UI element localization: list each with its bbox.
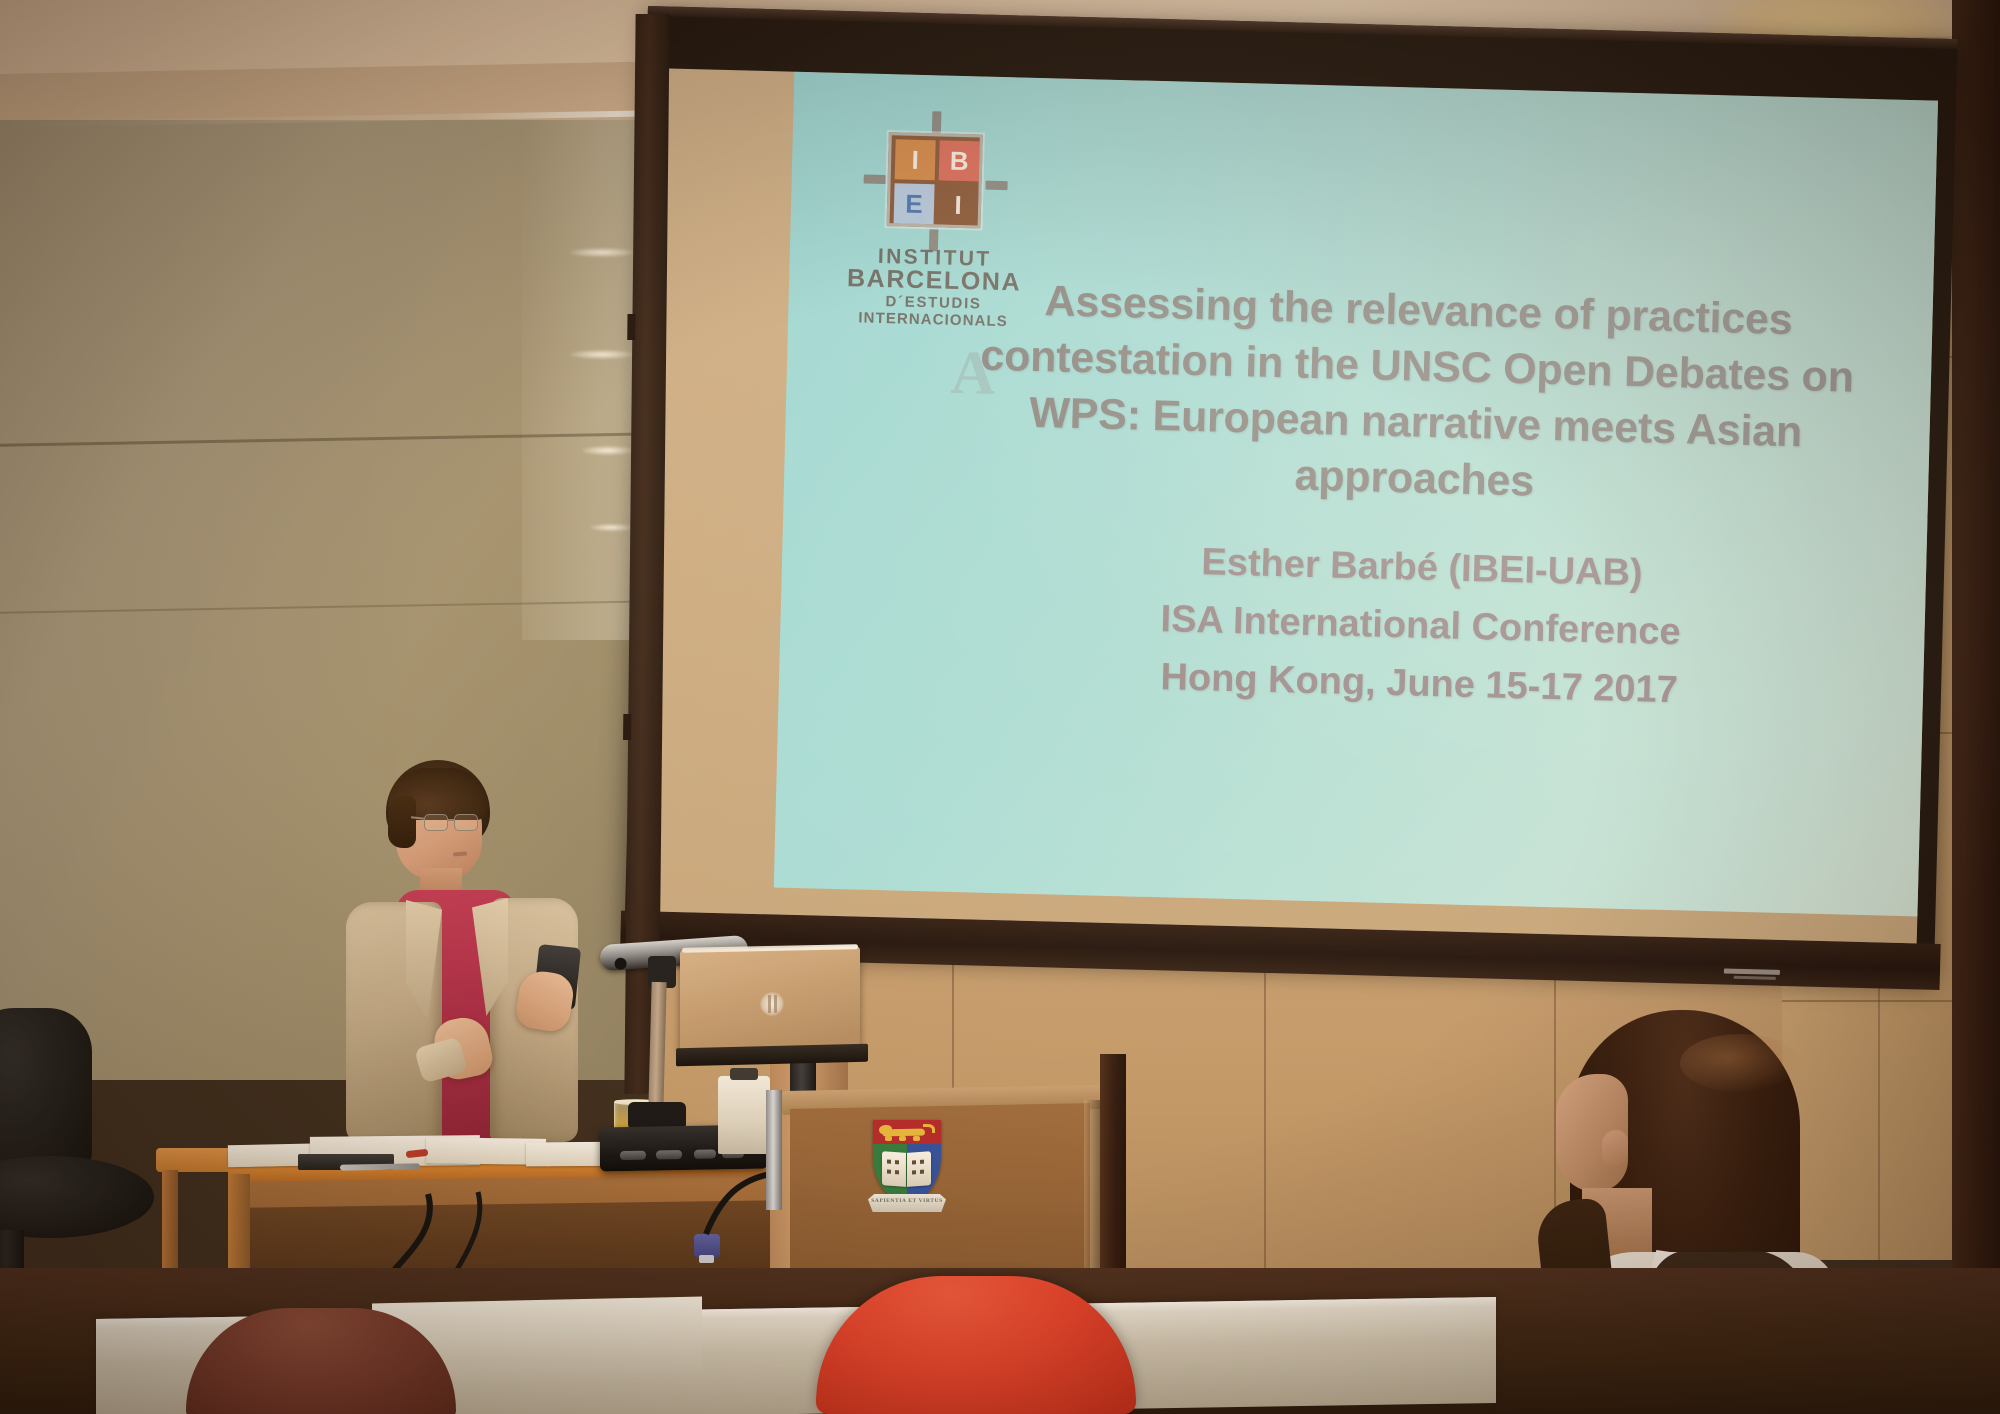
eyeglasses-icon xyxy=(424,814,486,834)
book-glyph xyxy=(887,1170,891,1174)
screen-brand-plate xyxy=(1724,969,1780,975)
book-glyph xyxy=(920,1160,924,1164)
presentation-photo-scene: I B E I INSTITUT BARCELONA D´ESTUDIS INT… xyxy=(0,0,2000,1414)
lion-tail xyxy=(923,1124,935,1133)
slide-subtitle: Esther Barbé (IBEI-UAB) ISA Internationa… xyxy=(1008,529,1832,723)
lion-paw xyxy=(913,1136,920,1141)
ibei-quadrant-i1: I xyxy=(895,139,936,180)
book-glyph xyxy=(895,1170,899,1174)
doccam-button[interactable] xyxy=(694,1149,716,1158)
lion-paw xyxy=(899,1136,906,1141)
crest-open-book-icon xyxy=(882,1152,932,1186)
book-glyph xyxy=(887,1160,891,1164)
wall-highlight xyxy=(590,524,634,531)
presenter-hair-side xyxy=(388,796,416,848)
eyeglass-lens-left xyxy=(424,814,448,831)
eyeglass-bridge xyxy=(448,819,455,821)
doccam-button[interactable] xyxy=(656,1150,682,1159)
crest-motto-ribbon: SAPIENTIA ET VIRTUS xyxy=(868,1194,946,1212)
presenter xyxy=(340,760,640,1180)
logo-tick-top-icon xyxy=(932,111,942,133)
logo-tick-left-icon xyxy=(864,175,886,185)
chair-backrest xyxy=(0,1008,92,1178)
hku-crest: SAPIENTIA ET VIRTUS xyxy=(868,1120,946,1224)
hp-logo-icon xyxy=(760,992,784,1017)
laptop-lid xyxy=(680,946,860,1054)
chair-seat xyxy=(0,1156,154,1238)
silver-pole xyxy=(766,1090,782,1210)
crest-lion-icon xyxy=(879,1124,935,1140)
slide-title: Assessing the relevance of practices con… xyxy=(934,271,1899,519)
doccam-lens-icon xyxy=(614,957,627,970)
projection-screen: I B E I INSTITUT BARCELONA D´ESTUDIS INT… xyxy=(624,6,1958,999)
book-glyph xyxy=(912,1170,916,1174)
book-glyph xyxy=(920,1170,924,1174)
wall-highlight xyxy=(570,248,634,257)
doccam-arm xyxy=(648,982,666,1110)
ibei-quadrant-b: B xyxy=(939,140,980,181)
white-tissue-box xyxy=(718,1076,770,1154)
screen-brand-plate-sub xyxy=(1734,976,1776,980)
slide-canvas: I B E I INSTITUT BARCELONA D´ESTUDIS INT… xyxy=(774,72,1938,917)
book-page-left xyxy=(882,1151,906,1187)
audience-hair-shine xyxy=(1680,1034,1800,1092)
wall-highlight xyxy=(570,350,634,359)
book-page-right xyxy=(907,1151,931,1187)
eyeglass-lens-right xyxy=(454,814,478,831)
wall-highlight xyxy=(582,446,634,455)
ibei-quadrant-i2: I xyxy=(938,184,979,225)
hp-laptop[interactable] xyxy=(680,948,866,1072)
ibei-logo-mark: I B E I xyxy=(874,120,995,241)
laptop-keyboard-base[interactable] xyxy=(676,1044,868,1067)
lion-paw xyxy=(885,1136,892,1141)
screen-surface: I B E I INSTITUT BARCELONA D´ESTUDIS INT… xyxy=(643,68,1938,950)
ibei-logo-square: I B E I xyxy=(887,132,983,228)
crest-shield xyxy=(873,1120,941,1202)
logo-tick-right-icon xyxy=(985,181,1007,191)
ibei-quadrant-e: E xyxy=(894,183,935,224)
post-notch xyxy=(623,714,631,740)
book-glyph xyxy=(912,1160,916,1164)
audience-ear xyxy=(1602,1130,1628,1166)
right-dark-column xyxy=(1952,0,2000,1290)
book-glyph xyxy=(895,1160,899,1164)
gray-pen xyxy=(340,1163,420,1170)
crest-motto-text: SAPIENTIA ET VIRTUS xyxy=(868,1198,946,1204)
lion-head xyxy=(879,1125,892,1135)
back-wall-seam xyxy=(1264,930,1266,1290)
doccam-button[interactable] xyxy=(620,1151,646,1160)
screen-frame: I B E I INSTITUT BARCELONA D´ESTUDIS INT… xyxy=(624,6,1957,979)
post-notch xyxy=(627,314,635,340)
